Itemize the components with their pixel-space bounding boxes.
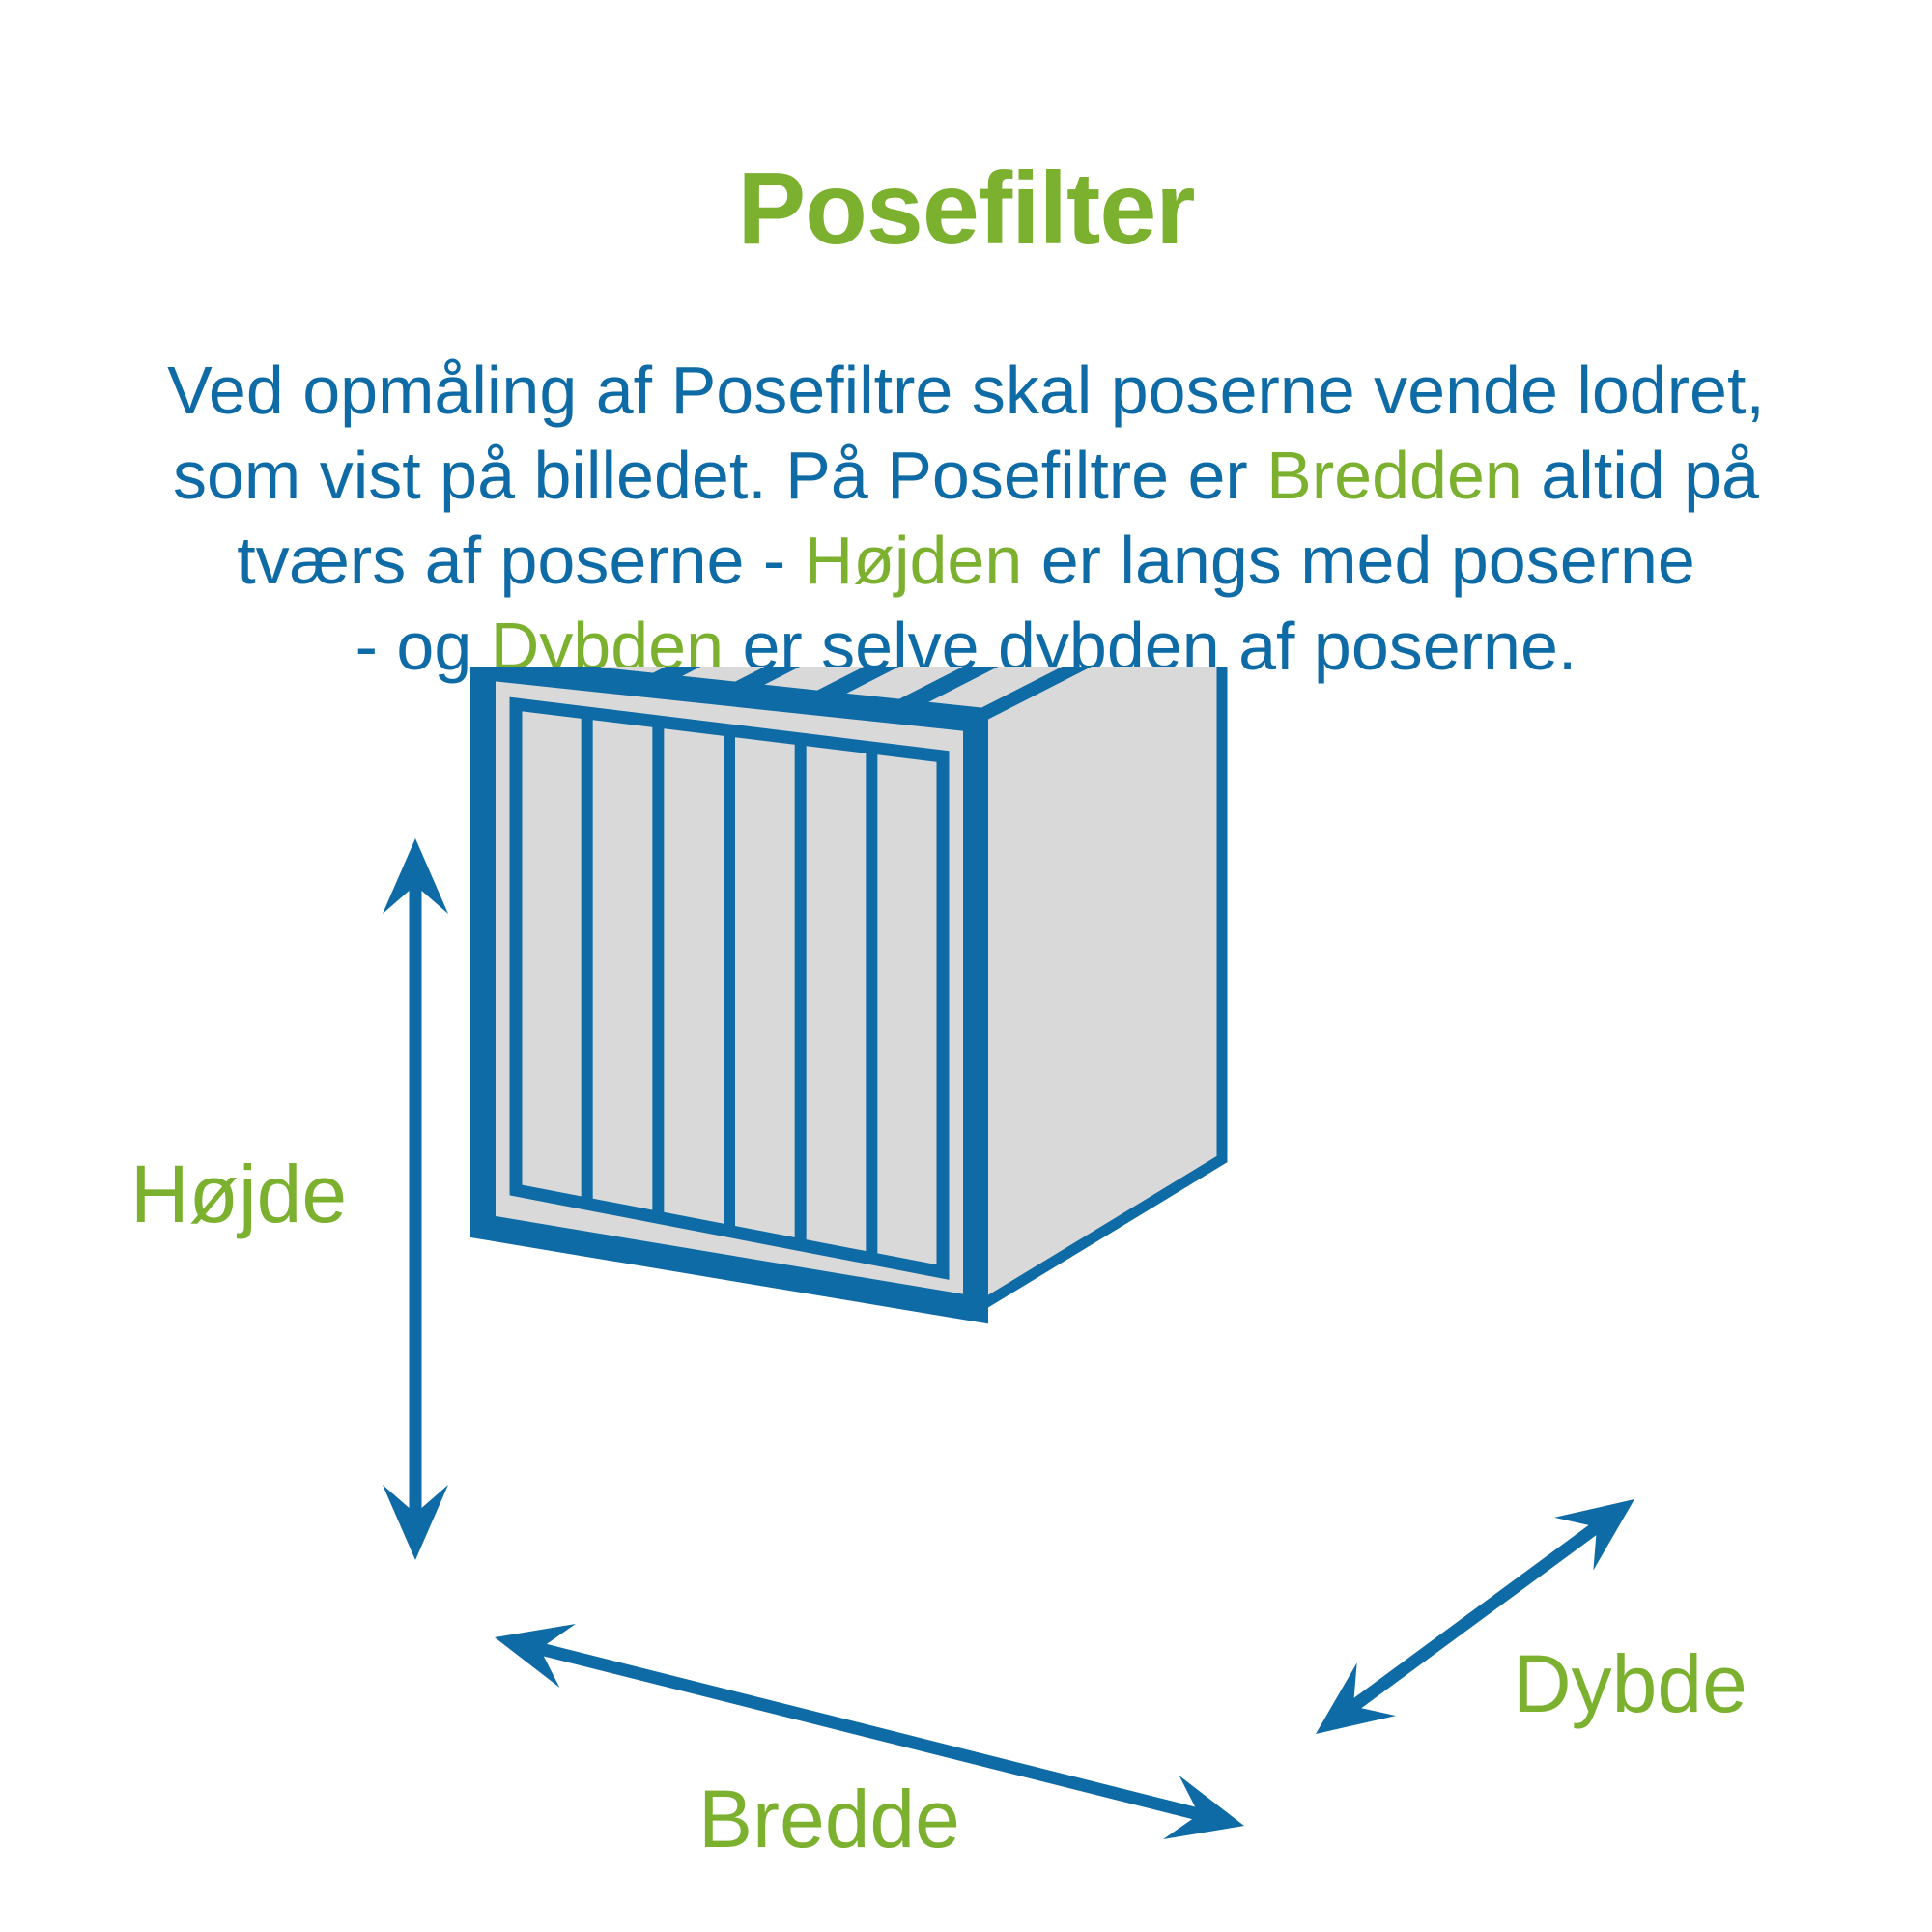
accent-hojden: Højden: [805, 523, 1023, 598]
intro-line-3-pre: tværs af poserne -: [237, 523, 804, 598]
accent-bredden: Bredden: [1266, 438, 1522, 513]
intro-line-3: tværs af poserne - Højden er langs med p…: [68, 518, 1864, 603]
label-hojde: Højde: [130, 1153, 347, 1235]
intro-line-1-text: Ved opmåling af Posefiltre skal poserne …: [167, 353, 1765, 428]
label-bredde: Bredde: [698, 1778, 960, 1860]
intro-line-2: som vist på billedet. På Posefiltre er B…: [68, 433, 1864, 518]
intro-line-3-post: er langs med poserne: [1022, 523, 1695, 598]
intro-line-2-pre: som vist på billedet. På Posefiltre er: [173, 438, 1266, 513]
poster-canvas: Posefilter Ved opmåling af Posefiltre sk…: [0, 0, 1932, 1932]
filter-side-face: [976, 667, 1222, 1309]
intro-paragraph: Ved opmåling af Posefiltre skal poserne …: [68, 348, 1864, 689]
page-title: Posefilter: [0, 157, 1932, 260]
bag-filter-diagram: [0, 667, 1932, 1932]
intro-line-1: Ved opmåling af Posefiltre skal poserne …: [68, 348, 1864, 433]
intro-line-2-post: altid på: [1522, 438, 1759, 513]
title-text: Posefilter: [737, 152, 1194, 266]
label-dybde: Dybde: [1513, 1643, 1747, 1724]
